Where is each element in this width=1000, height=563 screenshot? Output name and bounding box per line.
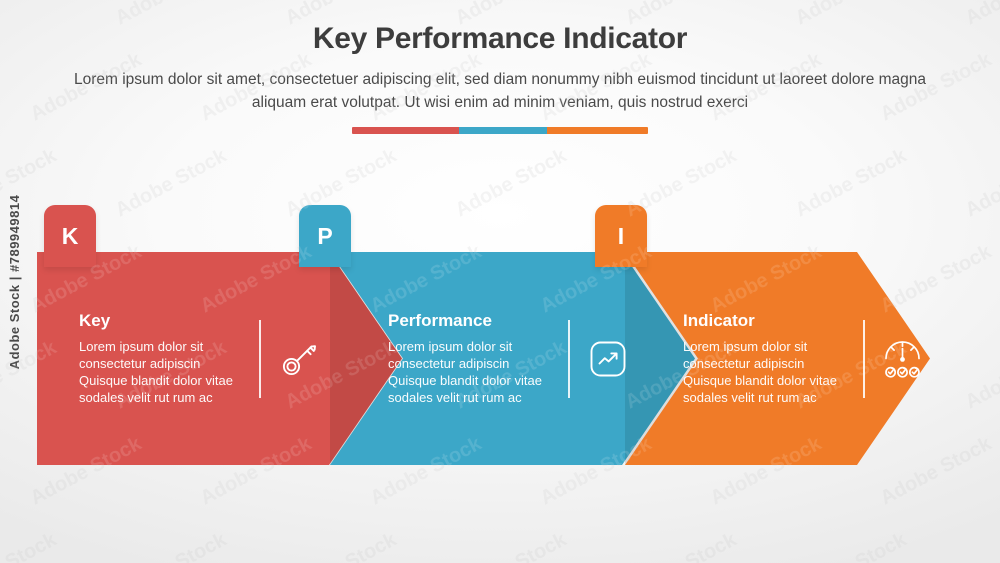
accent-segment-red xyxy=(352,127,459,134)
stock-watermark-label: Adobe Stock | #789949814 xyxy=(7,194,22,369)
step-3-divider xyxy=(863,320,865,398)
step-2-description: Lorem ipsum dolor sit consectetur adipis… xyxy=(388,338,548,406)
step-badge-k-letter: K xyxy=(62,223,79,250)
step-badge-p-letter: P xyxy=(317,223,332,250)
accent-segment-blue xyxy=(459,127,548,134)
accent-bar xyxy=(352,127,648,134)
step-2-heading: Performance xyxy=(388,311,548,331)
step-3-heading: Indicator xyxy=(683,311,843,331)
page-subtitle: Lorem ipsum dolor sit amet, consectetuer… xyxy=(60,68,940,114)
step-1-description: Lorem ipsum dolor sit consectetur adipis… xyxy=(79,338,239,406)
gauge-icon xyxy=(877,333,929,385)
chevron-diagram: K P I Key Lorem ipsum dolor sit consecte… xyxy=(0,205,1000,475)
accent-segment-orange xyxy=(547,127,648,134)
step-3-description: Lorem ipsum dolor sit consectetur adipis… xyxy=(683,338,843,406)
key-icon xyxy=(273,333,325,385)
chevron-step-3-content: Indicator Lorem ipsum dolor sit consecte… xyxy=(625,252,930,465)
page-title: Key Performance Indicator xyxy=(0,22,1000,56)
step-2-divider xyxy=(568,320,570,398)
step-1-heading: Key xyxy=(79,311,239,331)
infographic-stage: Key Performance Indicator Lorem ipsum do… xyxy=(0,0,1000,563)
step-1-divider xyxy=(259,320,261,398)
step-badge-i-letter: I xyxy=(618,223,624,250)
